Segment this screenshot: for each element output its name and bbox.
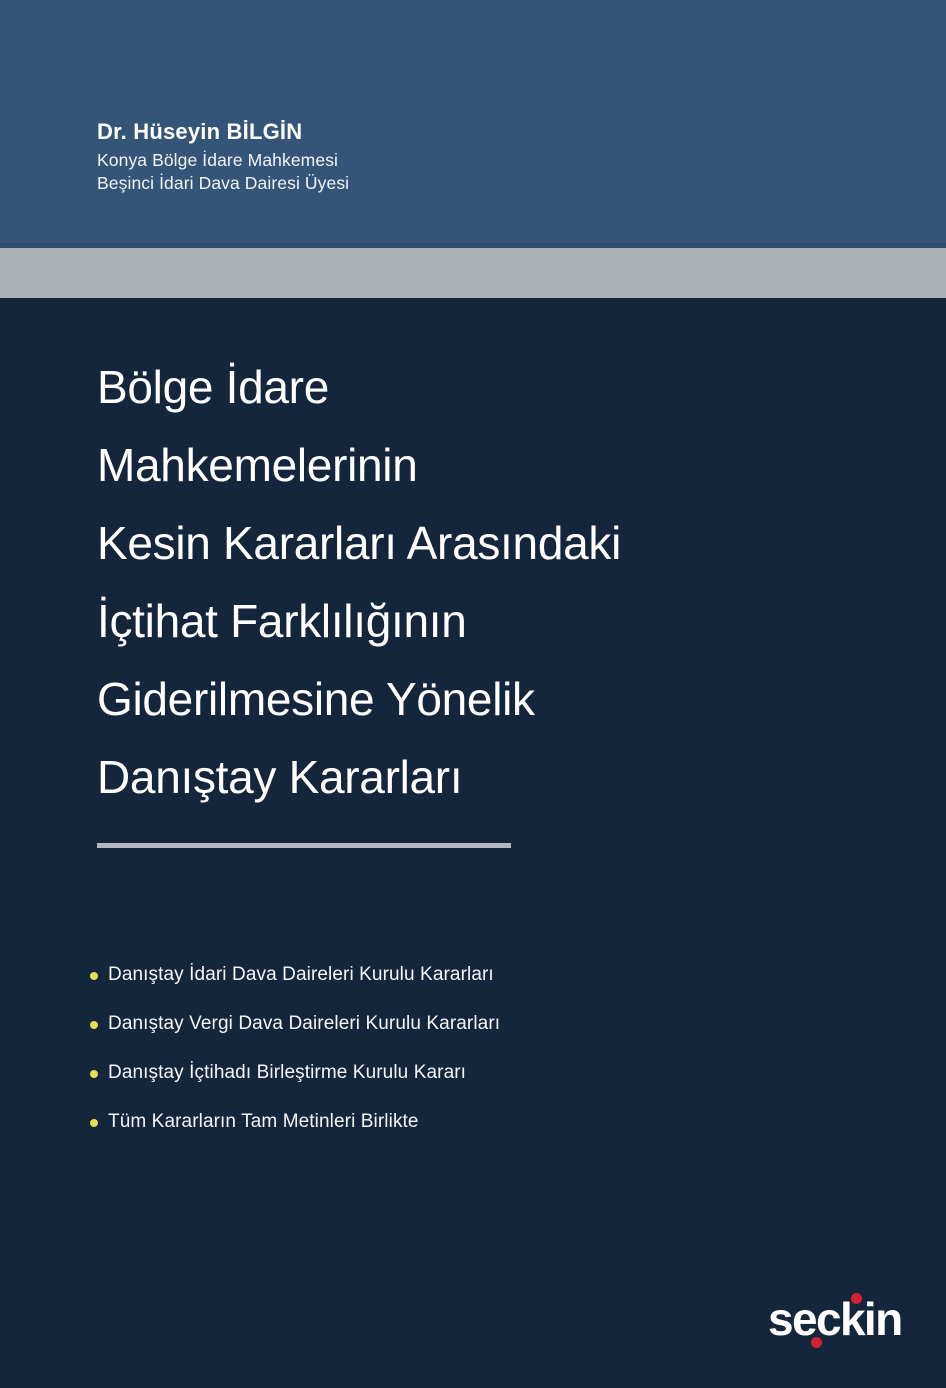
publisher-logo: seckin: [768, 1296, 898, 1358]
bullet-icon: [90, 1021, 98, 1029]
list-item-label: Danıştay İdari Dava Daireleri Kurulu Kar…: [108, 964, 494, 985]
bullet-icon: [90, 972, 98, 980]
bullet-icon: [90, 1070, 98, 1078]
bullet-icon: [90, 1119, 98, 1127]
title-line: Danıştay Kararları: [97, 738, 857, 816]
title-divider-rule: [97, 843, 511, 848]
logo-cedilla-dot-icon: [811, 1337, 822, 1348]
list-item: Danıştay İdari Dava Daireleri Kurulu Kar…: [90, 958, 850, 1007]
author-name: Dr. Hüseyin BİLGİN: [97, 118, 797, 146]
title-line: Mahkemelerinin: [97, 426, 857, 504]
list-item: Danıştay Vergi Dava Daireleri Kurulu Kar…: [90, 1007, 850, 1056]
feature-list: Danıştay İdari Dava Daireleri Kurulu Kar…: [90, 958, 850, 1154]
book-cover: Dr. Hüseyin BİLGİN Konya Bölge İdare Mah…: [0, 0, 946, 1388]
gray-separator-band: [0, 248, 946, 298]
author-affiliation-line-1: Konya Bölge İdare Mahkemesi: [97, 149, 797, 172]
list-item-label: Danıştay İçtihadı Birleştirme Kurulu Kar…: [108, 1062, 466, 1083]
list-item-label: Tüm Kararların Tam Metinleri Birlikte: [108, 1111, 419, 1132]
page-title: Bölge İdare Mahkemelerinin Kesin Kararla…: [97, 348, 857, 816]
list-item: Tüm Kararların Tam Metinleri Birlikte: [90, 1105, 850, 1154]
logo-tittle-dot-icon: [851, 1293, 862, 1304]
list-item-label: Danıştay Vergi Dava Daireleri Kurulu Kar…: [108, 1013, 500, 1034]
title-line: İçtihat Farklılığının: [97, 582, 857, 660]
title-line: Bölge İdare: [97, 348, 857, 426]
author-affiliation-line-2: Beşinci İdari Dava Dairesi Üyesi: [97, 172, 797, 195]
author-block: Dr. Hüseyin BİLGİN Konya Bölge İdare Mah…: [97, 118, 797, 195]
title-line: Kesin Kararları Arasındaki: [97, 504, 857, 582]
title-line: Giderilmesine Yönelik: [97, 660, 857, 738]
list-item: Danıştay İçtihadı Birleştirme Kurulu Kar…: [90, 1056, 850, 1105]
publisher-wordmark: seckin: [768, 1296, 902, 1342]
